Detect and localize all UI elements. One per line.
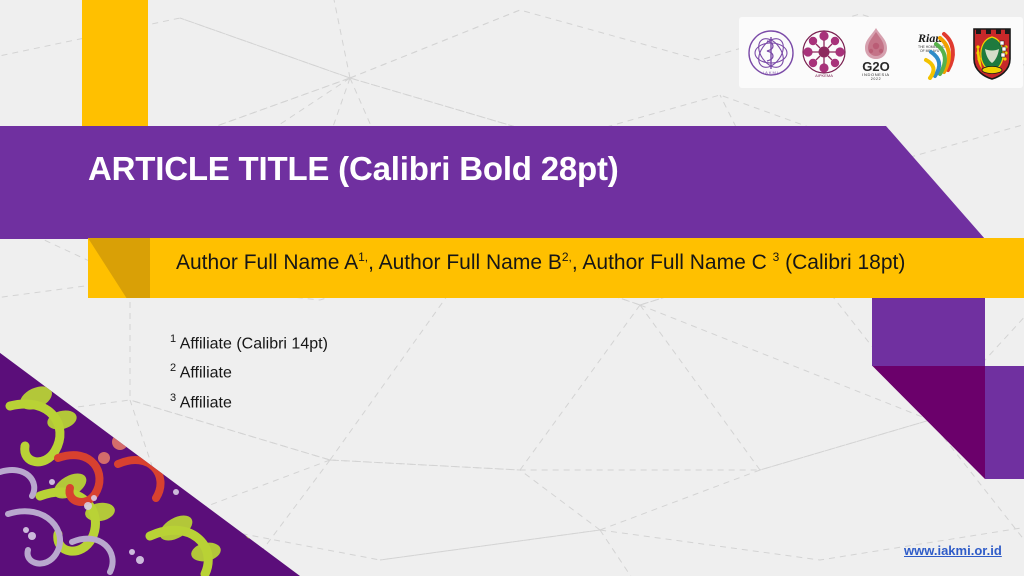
aipkema-logo: AIPKEMA [800,27,848,79]
affiliation-item: 3 Affiliate [170,386,328,415]
riau-province-emblem [969,25,1015,81]
yellow-accent-bar [82,0,148,127]
affiliation-item: 1 Affiliate (Calibri 14pt) [170,327,328,356]
accent-block-purple-right [985,366,1024,479]
svg-text:2022: 2022 [871,77,881,80]
g20-indonesia-logo: G2O INDONESIA 2022 [852,26,900,80]
accent-block-purple-upper [872,298,985,366]
logo-strip: IAKMI AIPKEMA [739,17,1023,88]
affiliation-text: Affiliate [180,365,232,382]
affiliation-item: 2 Affiliate [170,356,328,385]
iakmi-logo: IAKMI [747,27,795,79]
affiliation-marker: 3 [170,392,176,404]
website-link[interactable]: www.iakmi.or.id [904,543,1002,558]
page-title: ARTICLE TITLE (Calibri Bold 28pt) [88,150,619,188]
svg-text:AIPKEMA: AIPKEMA [815,73,833,78]
affiliation-marker: 1 [170,333,176,345]
riau-tourism-logo: Riau THE HOMELAND OF MELAYU [904,26,964,80]
svg-text:IAKMI: IAKMI [763,70,779,75]
title-slide: ARTICLE TITLE (Calibri Bold 28pt) Author… [0,0,1024,576]
affiliation-list: 1 Affiliate (Calibri 14pt) 2 Affiliate 3… [170,327,328,415]
author-list: Author Full Name A1,, Author Full Name B… [176,250,1006,275]
affiliation-marker: 2 [170,362,176,374]
affiliation-text: Affiliate [180,394,232,411]
affiliation-text: Affiliate (Calibri 14pt) [180,335,328,352]
